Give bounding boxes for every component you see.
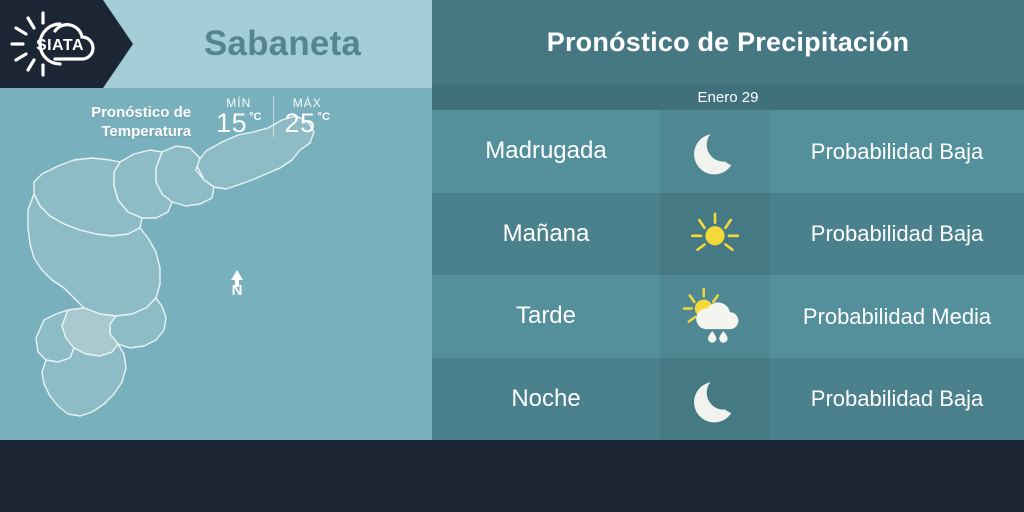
period-label: Noche — [432, 358, 660, 441]
weather-infographic: N SIATA — [0, 0, 1024, 512]
footer: @siatamedellin www.siata.gov.co Con el a… — [0, 440, 1024, 512]
sun-icon — [660, 193, 770, 276]
precipitation-title: Pronóstico de Precipitación — [432, 0, 1024, 84]
temperature-title-line2: Temperatura — [91, 122, 191, 141]
temperature-min-unit: °C — [249, 112, 261, 123]
sun-icon-glyph — [687, 206, 743, 262]
temperature-max-value: 25 — [285, 110, 316, 137]
forecast-date: Enero 29 — [432, 84, 1024, 110]
temperature-title: Pronóstico de Temperatura — [91, 96, 191, 141]
left-panel: N SIATA — [0, 0, 432, 440]
moon-icon — [660, 358, 770, 441]
north-label: N — [232, 284, 243, 298]
logo-wordmark: SIATA — [36, 37, 84, 54]
north-arrow-indicator: N — [224, 270, 250, 298]
temperature-min: MÍN 15 °C — [205, 96, 273, 137]
city-title: Sabaneta — [133, 0, 432, 88]
forecast-rows: MadrugadaProbabilidad BajaMañanaProbabil… — [432, 110, 1024, 440]
temperature-forecast: Pronóstico de Temperatura MÍN 15 °C MÁX … — [0, 96, 432, 158]
sun-cloud-icon: SIATA — [8, 9, 112, 79]
temperature-max-unit: °C — [318, 112, 330, 123]
probability-label: Probabilidad Baja — [770, 110, 1024, 193]
sun-rain-cloud-icon — [660, 275, 770, 358]
temperature-min-value: 15 — [216, 110, 247, 137]
precipitation-panel: Pronóstico de Precipitación Enero 29 Mad… — [432, 0, 1024, 440]
sun-rain-cloud-icon-glyph — [681, 286, 749, 346]
temperature-max: MÁX 25 °C — [274, 96, 341, 137]
probability-label: Probabilidad Baja — [770, 193, 1024, 276]
moon-icon-glyph — [688, 124, 742, 178]
moon-icon-glyph — [688, 372, 742, 426]
north-arrow-icon — [231, 270, 243, 280]
temperature-min-label: MÍN — [226, 96, 251, 110]
forecast-row: MadrugadaProbabilidad Baja — [432, 110, 1024, 193]
forecast-row: MañanaProbabilidad Baja — [432, 193, 1024, 276]
temperature-title-line1: Pronóstico de — [91, 103, 191, 122]
forecast-row: TardeProbabilidad Media — [432, 275, 1024, 358]
probability-label: Probabilidad Media — [770, 275, 1024, 358]
period-label: Tarde — [432, 275, 660, 358]
probability-label: Probabilidad Baja — [770, 358, 1024, 441]
moon-icon — [660, 110, 770, 193]
forecast-row: NocheProbabilidad Baja — [432, 358, 1024, 441]
temperature-max-label: MÁX — [293, 96, 322, 110]
temperature-values: MÍN 15 °C MÁX 25 °C — [205, 96, 341, 137]
period-label: Mañana — [432, 193, 660, 276]
period-label: Madrugada — [432, 110, 660, 193]
